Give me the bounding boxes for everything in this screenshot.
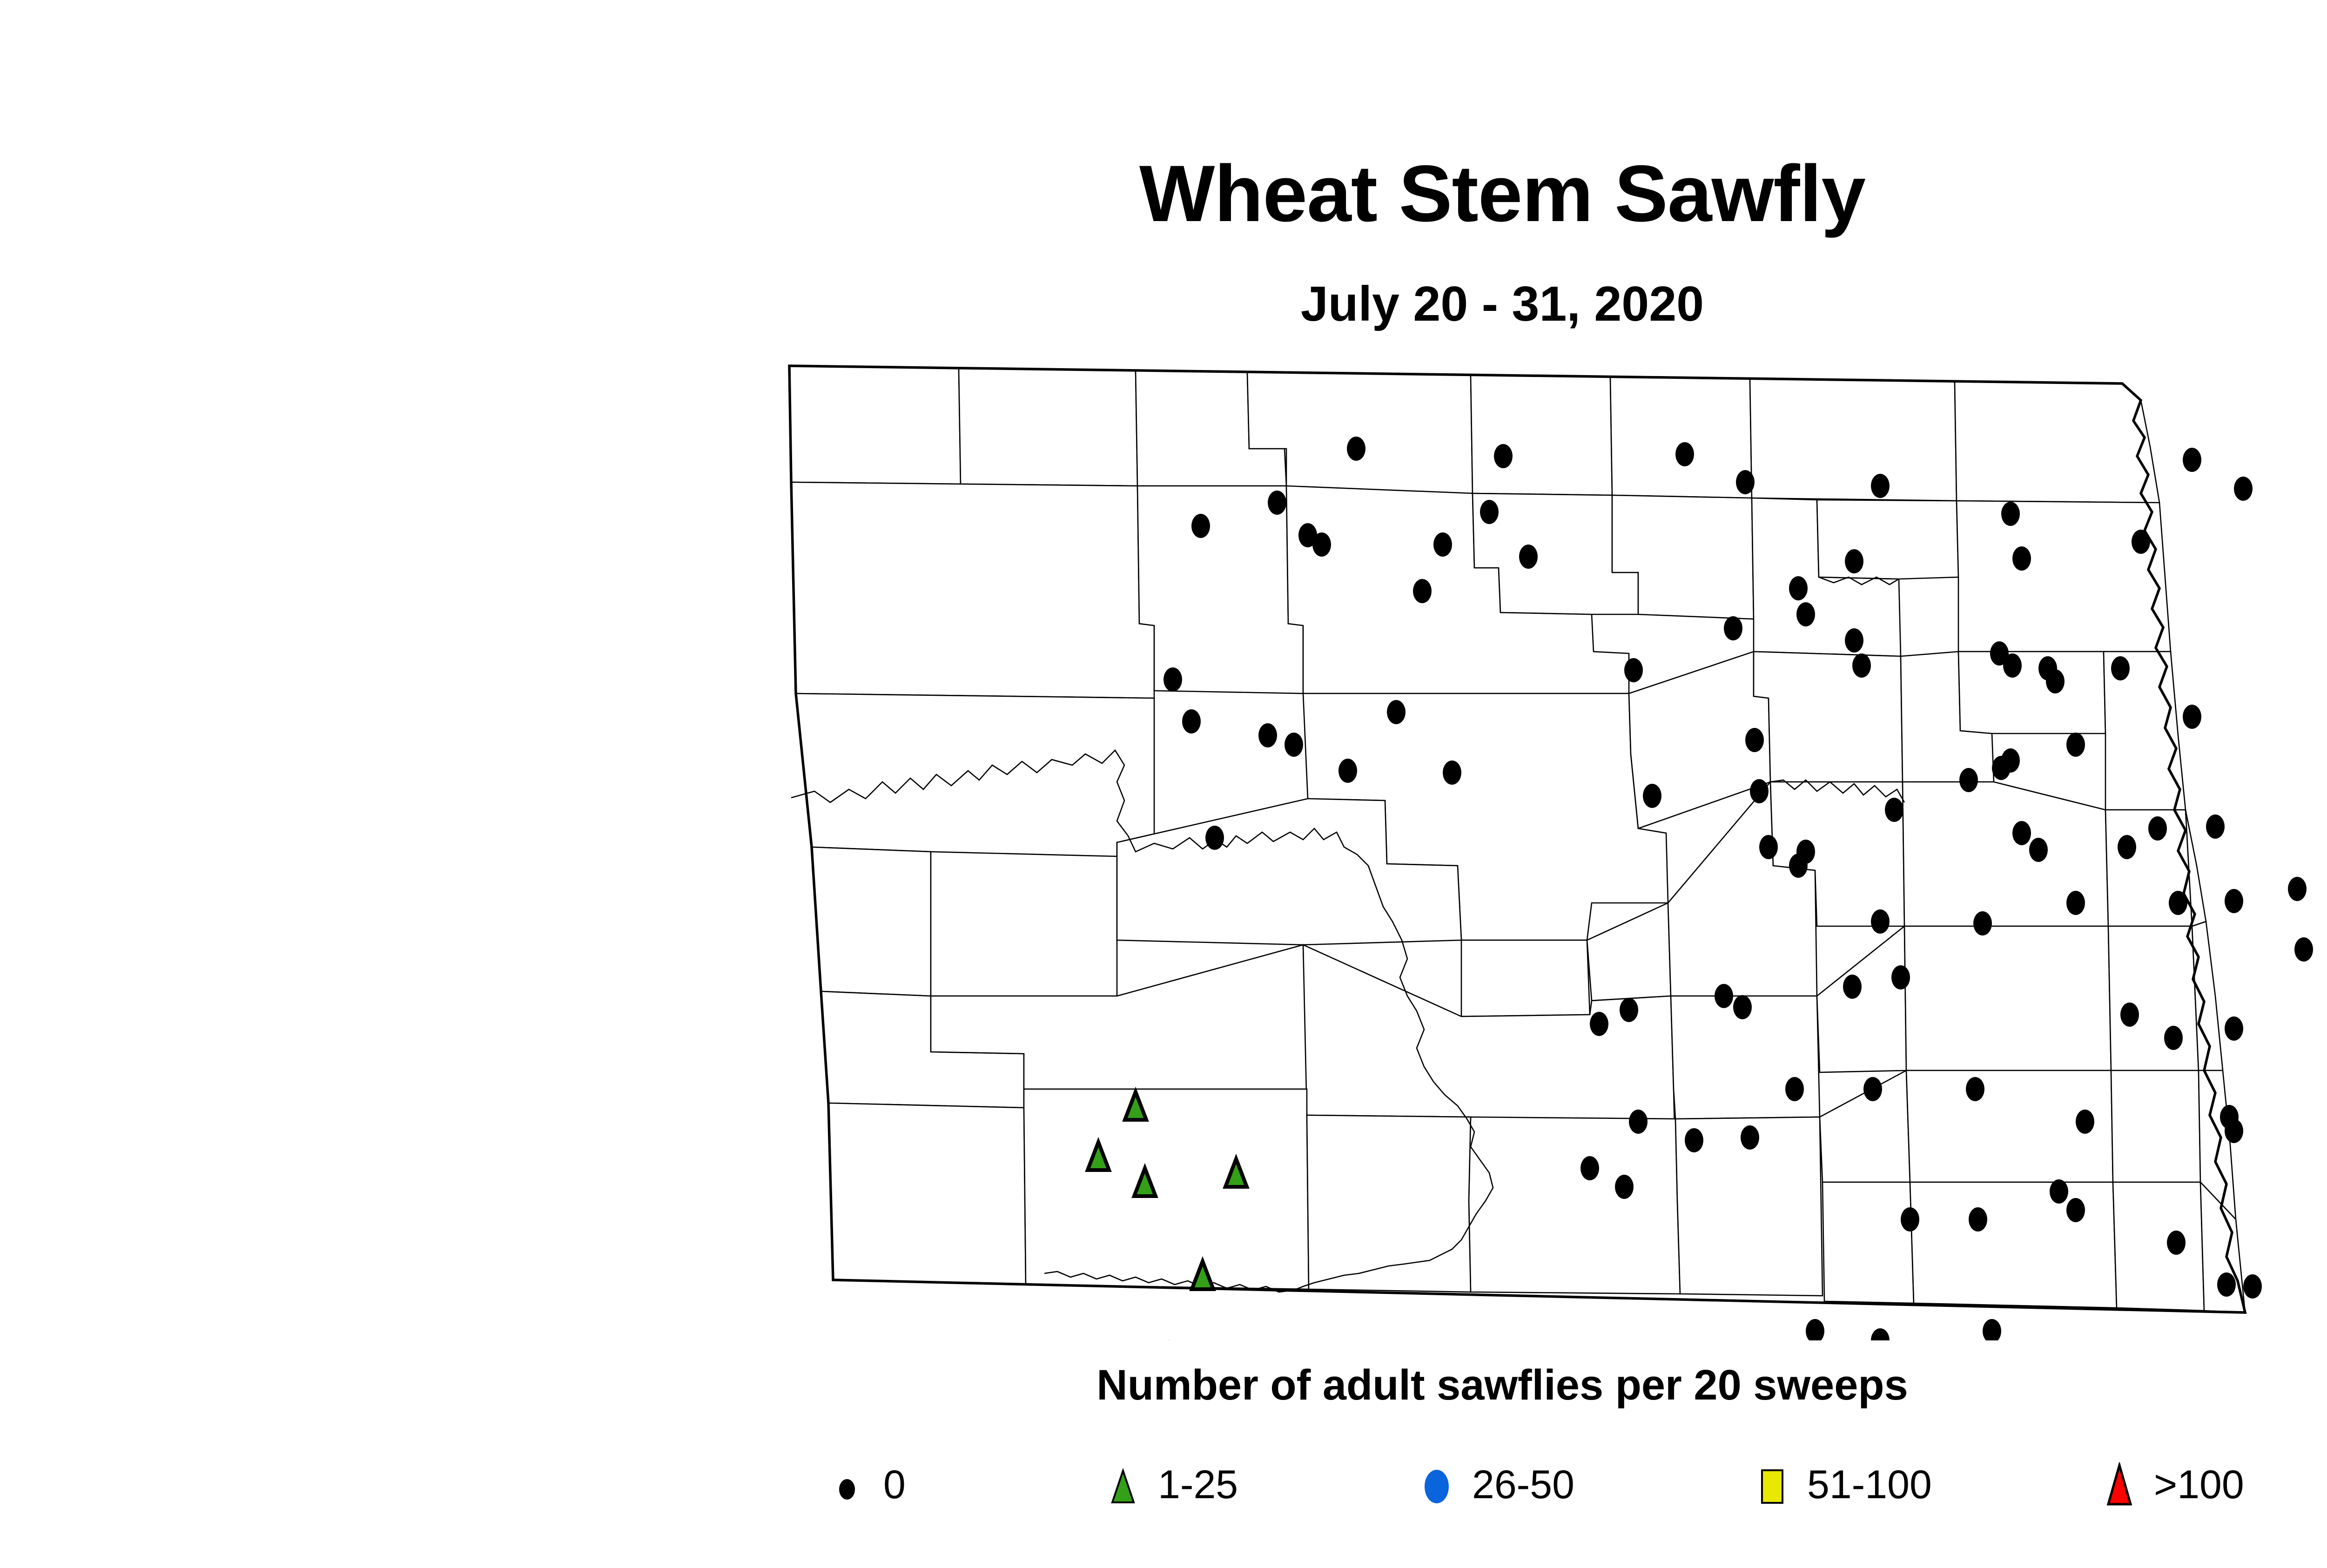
map-point-zero [2066,733,2085,757]
map-point-zero [1413,579,1432,603]
map-point-zero [2132,530,2150,554]
legend-title: Number of adult sawflies per 20 sweeps [0,1364,2327,1406]
page-title: Wheat Stem Sawfly [0,154,2327,234]
county-ramsey [1817,500,1958,579]
map-point-zero [1741,1125,1759,1150]
legend-label-51-100: 51-100 [1807,1465,1932,1505]
map-point-zero [1845,628,1863,653]
map-point-zero [2001,502,2020,526]
county-nelson [1958,652,2105,734]
legend-item-over-100[interactable]: >100 [2104,1450,2244,1520]
map-point-zero [1629,1110,1648,1134]
map-point-zero [1845,549,1863,573]
map-point-zero [1750,779,1769,803]
map-point-zero [1182,709,1201,734]
county-burke [959,368,1137,486]
county-oliver [1587,903,1671,1001]
county-cavalier [1750,379,1957,501]
map-point-zero [2120,1003,2139,1027]
map-point-zero [1615,1175,1634,1199]
map-point-zero [2167,1231,2186,1255]
map-point-zero [2111,656,2130,680]
county-stutsman-s [1904,926,2111,1070]
map-point-zero [2225,1119,2243,1143]
map-point-zero [2234,477,2253,501]
map-point-zero [1685,1128,1703,1152]
county-grant [1469,1117,1680,1294]
map-point-zero [1871,474,1890,498]
map-point-zero [1983,1319,2001,1340]
map-point-zero [1969,1207,1987,1232]
map-point-zero [1338,759,1357,783]
map-point-zero [2148,816,2167,841]
legend-item-51-100[interactable]: 51-100 [1757,1450,1932,1520]
map-page: Wheat Stem Sawfly July 20 - 31, 2020 [0,0,2327,1568]
county-bowman [828,1103,1026,1285]
county-ransom [2111,1070,2200,1182]
map-point-zero [1745,728,1764,752]
north-dakota-map[interactable] [652,344,2327,1340]
county-mercer [1461,940,1590,1016]
map-point-zero [1871,1328,1890,1340]
county-sargent [2113,1182,2204,1311]
map-point-zero [1443,760,1461,785]
map-point-zero [2183,448,2201,472]
map-point-zero [1590,1012,1608,1036]
map-point-zero [1863,1077,1882,1101]
map-point-zero [2012,546,2031,571]
map-point-zero [1433,532,1452,557]
legend-item-0[interactable]: 0 [833,1450,906,1520]
map-point-zero [1643,784,1661,808]
map-point-zero [1191,514,1210,538]
map-point-zero [1871,909,1890,934]
county-dickey [1910,1182,2117,1308]
county-adams [1024,1089,1309,1289]
map-point-zero [1796,602,1815,626]
county-williams [791,482,1154,698]
map-point-zero [1736,470,1755,494]
legend-item-1-25[interactable]: 1-25 [1108,1450,1238,1520]
map-point-zero [2288,877,2307,901]
county-barnes-s [2108,926,2199,1070]
map-point-zero [1347,437,1365,461]
map-point-zero [2169,891,2187,915]
map-point-zero [2183,705,2201,729]
map-point-zero [1620,998,1638,1022]
map-point-zero [1715,984,1733,1008]
map-point-zero [2029,838,2048,862]
map-point-zero [2066,1198,2085,1222]
red-triangle-icon [2104,1462,2138,1507]
map-point-zero [1624,658,1643,682]
map-point-zero [1901,1207,1919,1232]
green-triangle-icon [1108,1462,1142,1507]
map-point-zero [2012,821,2031,845]
legend-label-1-25: 1-25 [1158,1465,1238,1505]
map-point-zero [1733,995,1752,1019]
legend-label-26-50: 26-50 [1472,1465,1574,1505]
map-point-zero [2294,937,2313,962]
map-point-zero [1285,733,1303,757]
county-towner [1610,377,1752,498]
map-point-zero [2164,1026,2183,1050]
map-point-zero [1519,545,1538,569]
map-point-zero [2225,889,2243,913]
map-point-zero [1163,667,1182,692]
county-rolette [1471,375,1612,495]
map-point-zero [1675,442,1694,466]
map-point-zero [1966,1077,1984,1101]
county-kidder-s [1817,926,1906,1072]
map-point-zero [2001,748,2020,773]
county-mcintosh [1823,1182,1914,1303]
map-point-zero [2046,669,2065,693]
map-point-zero [1387,700,1406,724]
page-subtitle: July 20 - 31, 2020 [0,279,2327,329]
map-point-zero [1959,768,1978,792]
map-point-zero [1796,840,1815,864]
map-point-zero [1580,1156,1599,1180]
map-point-zero [1312,532,1331,557]
map-point-zero [1885,798,1903,822]
map-point-zero [2217,1272,2236,1297]
map-svg [652,344,2327,1340]
map-point-zero [1724,616,1742,640]
county-golden-valley [812,847,931,996]
map-point-zero [1843,975,1862,999]
map-point-zero [1205,826,1224,850]
map-point-zero [1759,835,1778,859]
map-point-zero [1494,444,1513,468]
map-point-zero [1258,723,1277,747]
black-dot-icon [833,1462,868,1507]
map-point-zero [1806,1319,1824,1340]
map-point-zero [2003,653,2022,678]
map-point-zero [2118,835,2136,859]
county-walsh [1957,501,2171,652]
yellow-square-icon [1757,1462,1791,1507]
map-point-zero [1973,911,1992,935]
county-divide [789,366,961,484]
map-point-zero [2066,891,2085,915]
map-point-zero [1268,491,1286,515]
county-mountrail [1137,486,1303,693]
blue-circle-icon [1422,1462,1456,1507]
legend-label-over-100: >100 [2154,1465,2244,1505]
map-point-zero [1785,1077,1804,1101]
map-point-zero [2206,814,2225,839]
map-point-zero [1789,576,1808,600]
map-point-zero [2076,1110,2094,1134]
legend-label-0: 0 [883,1465,906,1505]
map-point-zero [1852,653,1871,678]
map-point-zero [2225,1016,2243,1041]
county-pembina [1955,382,2159,503]
legend: 0 1-25 26-50 51-100 >100 [833,1450,2322,1524]
county-billings [931,852,1117,996]
county-wells [1754,652,1903,782]
map-point-zero [2050,1179,2068,1204]
map-point-zero [1891,965,1910,989]
map-point-zero [2243,1274,2262,1299]
legend-item-26-50[interactable]: 26-50 [1422,1450,1574,1520]
map-point-zero [1480,500,1499,524]
